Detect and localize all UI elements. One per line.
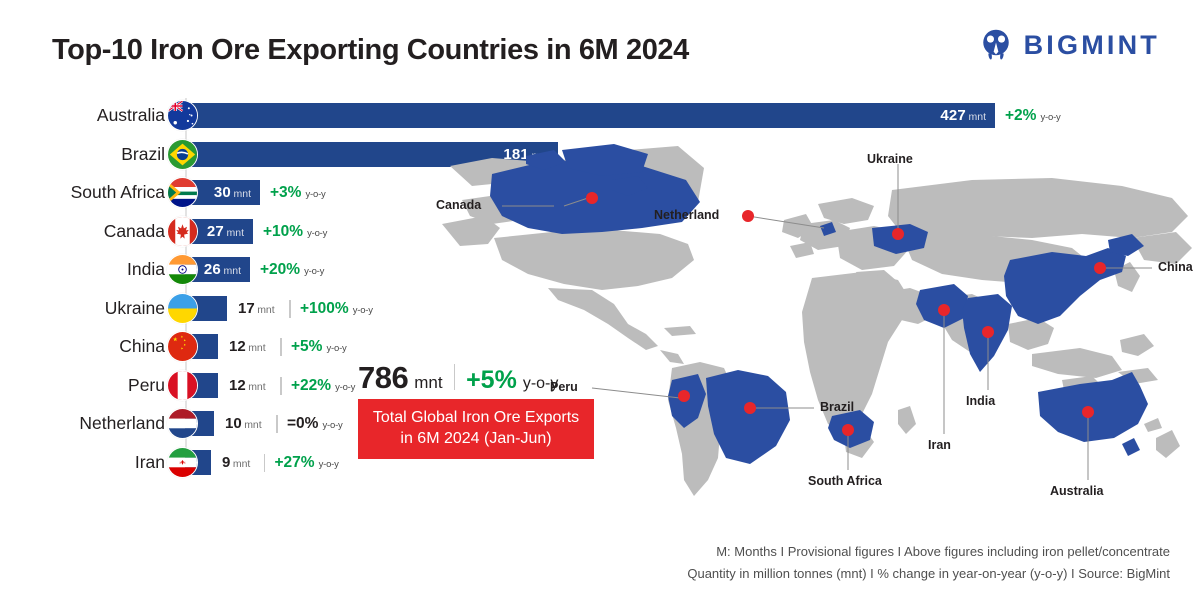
flag-icon-ca xyxy=(167,216,198,247)
bar-yoy-suffix: y-o-y xyxy=(305,189,325,200)
bar-yoy-percent: =0% xyxy=(287,415,318,432)
bar-value-unit: mnt xyxy=(223,265,241,277)
world-map-svg xyxy=(432,128,1200,500)
bar-value-unit: mnt xyxy=(244,419,262,431)
map-label-ukraine: Ukraine xyxy=(867,152,913,166)
bar-yoy-percent: +5% xyxy=(291,338,322,355)
bar-value-unit: mnt xyxy=(248,381,266,393)
bar-yoy-percent: +2% xyxy=(1005,107,1036,124)
map-label-brazil: Brazil xyxy=(820,400,854,414)
marker-canada xyxy=(586,192,598,204)
value-percent-divider xyxy=(280,377,282,395)
map-label-south-africa: South Africa xyxy=(808,474,882,488)
marker-peru xyxy=(678,390,690,402)
bar-value-number: 10 xyxy=(225,415,242,432)
flag-icon-nl xyxy=(167,408,198,439)
bigmint-mark-icon xyxy=(979,28,1013,62)
infographic-canvas: Top-10 Iron Ore Exporting Countries in 6… xyxy=(0,0,1200,600)
bar-value-number: 9 xyxy=(222,454,230,471)
bar-row-country-label: South Africa xyxy=(71,175,165,209)
bar-value-inside: 427mnt xyxy=(940,103,986,128)
bar-row: Australia427mnt+2%y-o-y xyxy=(0,98,1200,132)
bar-yoy-suffix: y-o-y xyxy=(307,228,327,239)
map-label-india: India xyxy=(966,394,995,408)
bar xyxy=(185,103,995,128)
page-title: Top-10 Iron Ore Exporting Countries in 6… xyxy=(52,34,689,67)
bar-yoy: =0%y-o-y xyxy=(287,411,343,436)
bar-value-outside: 9mnt xyxy=(222,450,250,475)
marker-india xyxy=(982,326,994,338)
marker-china xyxy=(1094,262,1106,274)
bar-row-country-label: Ukraine xyxy=(105,291,165,325)
marker-australia xyxy=(1082,406,1094,418)
bar-yoy-percent: +27% xyxy=(275,454,315,471)
bar-value-inside: 27mnt xyxy=(207,219,244,244)
bar-row-country-label: Brazil xyxy=(121,137,165,171)
flag-icon-za xyxy=(167,177,198,208)
bar-value-unit: mnt xyxy=(233,188,251,200)
bar-value-number: 12 xyxy=(229,338,246,355)
bar-yoy-suffix: y-o-y xyxy=(319,459,339,470)
value-percent-divider xyxy=(280,338,282,356)
bar-value-number: 427 xyxy=(940,107,966,124)
bar-yoy-suffix: y-o-y xyxy=(326,343,346,354)
value-percent-divider xyxy=(264,454,266,472)
bar-row-country-label: Canada xyxy=(104,214,165,248)
bar-value-inside: 30mnt xyxy=(214,180,251,205)
marker-southafrica xyxy=(842,424,854,436)
bar-yoy: +2%y-o-y xyxy=(1005,103,1061,128)
bar-yoy-suffix: y-o-y xyxy=(335,382,355,393)
bar-value-number: 30 xyxy=(214,184,231,201)
bar-row-country-label: China xyxy=(119,329,165,363)
flag-icon-pe xyxy=(167,370,198,401)
bar-value-inside: 26mnt xyxy=(204,257,241,282)
total-number: 786 xyxy=(358,360,408,396)
flag-icon-in xyxy=(167,254,198,285)
bar-value-unit: mnt xyxy=(968,111,986,123)
footer-line-1: M: Months I Provisional figures I Above … xyxy=(687,541,1170,564)
bar-value-unit: mnt xyxy=(233,458,251,470)
marker-netherland xyxy=(742,210,754,222)
bar-value-unit: mnt xyxy=(226,227,244,239)
bar-yoy-suffix: y-o-y xyxy=(353,305,373,316)
bar-yoy-percent: +100% xyxy=(300,300,349,317)
bar-yoy: +20%y-o-y xyxy=(260,257,324,282)
bar-yoy-suffix: y-o-y xyxy=(322,420,342,431)
map-label-canada: Canada xyxy=(436,198,481,212)
bar-yoy-percent: +10% xyxy=(263,223,303,240)
bar-value-outside: 12mnt xyxy=(229,373,266,398)
bigmint-logo: BIGMINT xyxy=(979,28,1160,62)
bar-value-outside: 12mnt xyxy=(229,334,266,359)
flag-icon-ua xyxy=(167,293,198,324)
marker-brazil xyxy=(744,402,756,414)
bar-value-unit: mnt xyxy=(257,304,275,316)
flag-icon-ir xyxy=(167,447,198,478)
map-label-iran: Iran xyxy=(928,438,951,452)
marker-ukraine xyxy=(892,228,904,240)
bar-value-outside: 17mnt xyxy=(238,296,275,321)
world-map: Canada Netherland Ukraine China Peru Bra… xyxy=(432,128,1200,500)
bar-value-number: 27 xyxy=(207,223,224,240)
bar-value-unit: mnt xyxy=(248,342,266,354)
bar-value-number: 12 xyxy=(229,377,246,394)
bar-yoy-suffix: y-o-y xyxy=(304,266,324,277)
bar-row-country-label: Netherland xyxy=(79,406,165,440)
bar-yoy-percent: +20% xyxy=(260,261,300,278)
flag-icon-au xyxy=(167,100,198,131)
map-label-australia: Australia xyxy=(1050,484,1104,498)
bar-yoy-percent: +22% xyxy=(291,377,331,394)
footer-line-2: Quantity in million tonnes (mnt) I % cha… xyxy=(687,563,1170,586)
bar-row-country-label: India xyxy=(127,252,165,286)
bar-row-country-label: Peru xyxy=(128,368,165,402)
footer-notes: M: Months I Provisional figures I Above … xyxy=(687,541,1170,587)
bar-yoy: +27%y-o-y xyxy=(275,450,339,475)
bar-yoy: +10%y-o-y xyxy=(263,219,327,244)
bar-yoy: +3%y-o-y xyxy=(270,180,326,205)
bar-value-number: 17 xyxy=(238,300,255,317)
bar-yoy: +5%y-o-y xyxy=(291,334,347,359)
bar-yoy-suffix: y-o-y xyxy=(1040,112,1060,123)
flag-icon-br xyxy=(167,139,198,170)
bar-row-country-label: Australia xyxy=(97,98,165,132)
bar-yoy: +22%y-o-y xyxy=(291,373,355,398)
leader-peru xyxy=(592,388,680,398)
bar-value-number: 26 xyxy=(204,261,221,278)
map-label-netherland: Netherland xyxy=(654,208,719,222)
marker-iran xyxy=(938,304,950,316)
map-label-peru: Peru xyxy=(550,380,578,394)
value-percent-divider xyxy=(276,415,278,433)
bar-yoy: +100%y-o-y xyxy=(300,296,373,321)
bar-row-country-label: Iran xyxy=(135,445,165,479)
flag-icon-cn xyxy=(167,331,198,362)
logo-text: BIGMINT xyxy=(1024,30,1160,61)
map-label-china: China xyxy=(1158,260,1193,274)
bar-yoy-percent: +3% xyxy=(270,184,301,201)
value-percent-divider xyxy=(289,300,291,318)
bar-value-outside: 10mnt xyxy=(225,411,262,436)
